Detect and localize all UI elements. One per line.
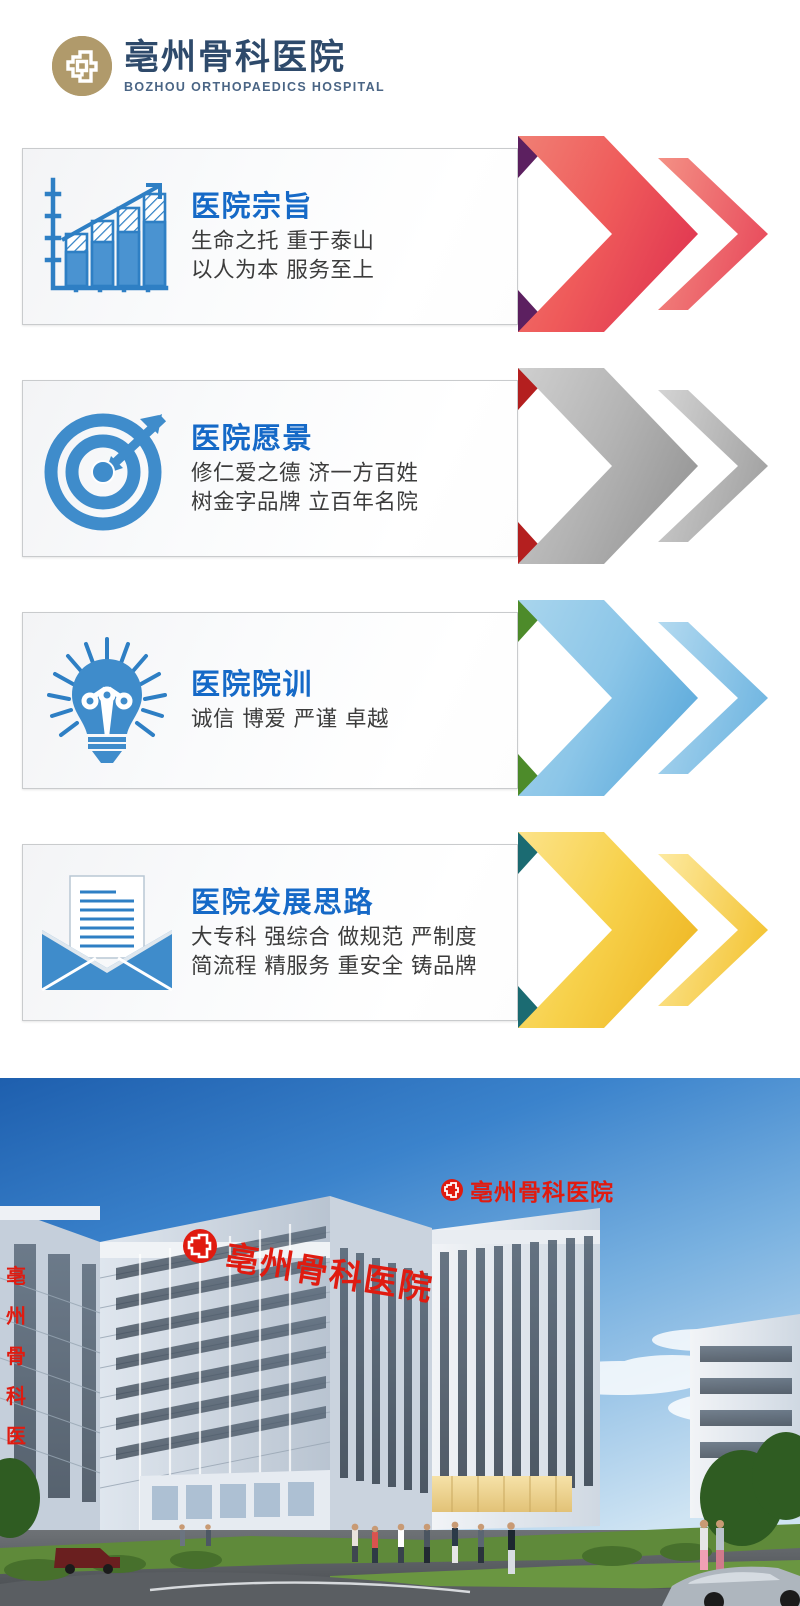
- card-line-2: 简流程 精服务 重安全 铸品牌: [191, 952, 509, 981]
- info-block-hospital-vision: 医院愿景 修仁爱之德 济一方百姓 树金字品牌 立百年名院: [0, 350, 800, 582]
- card-line-1: 诚信 博爱 严谨 卓越: [191, 705, 509, 734]
- card-line-2: 树金字品牌 立百年名院: [191, 488, 509, 517]
- card-body: 医院宗旨 生命之托 重于泰山 以人为本 服务至上: [191, 189, 517, 285]
- envelope-letter-icon: [23, 845, 191, 1020]
- info-block-hospital-development: 医院发展思路 大专科 强综合 做规范 严制度 简流程 精服务 重安全 铸品牌: [0, 814, 800, 1046]
- brand-text: 亳州骨科医院 BOZHOU ORTHOPAEDICS HOSPITAL: [124, 38, 385, 95]
- card-title: 医院愿景: [191, 421, 509, 455]
- card-body: 医院发展思路 大专科 强综合 做规范 严制度 简流程 精服务 重安全 铸品牌: [191, 885, 517, 981]
- lightbulb-idea-icon: [23, 613, 191, 788]
- card-hospital-motto[interactable]: 医院院训 诚信 博爱 严谨 卓越: [22, 612, 518, 789]
- card-title: 医院发展思路: [191, 885, 509, 919]
- svg-text:科: 科: [6, 1384, 26, 1408]
- brand-header: 亳州骨科医院 BOZHOU ORTHOPAEDICS HOSPITAL: [52, 36, 385, 96]
- card-hospital-vision[interactable]: 医院愿景 修仁爱之德 济一方百姓 树金字品牌 立百年名院: [22, 380, 518, 557]
- svg-text:亳: 亳: [6, 1264, 26, 1288]
- svg-text:医: 医: [6, 1424, 26, 1448]
- hospital-campus-photo: 亳州骨科医院: [0, 1078, 800, 1606]
- card-body: 医院院训 诚信 博爱 严谨 卓越: [191, 667, 517, 734]
- card-hospital-development[interactable]: 医院发展思路 大专科 强综合 做规范 严制度 简流程 精服务 重安全 铸品牌: [22, 844, 518, 1021]
- svg-text:骨: 骨: [6, 1344, 26, 1368]
- card-title: 医院院训: [191, 667, 509, 701]
- chevron-group-1: [470, 118, 800, 350]
- bar-chart-growth-icon: [23, 149, 191, 324]
- card-hospital-purpose[interactable]: 医院宗旨 生命之托 重于泰山 以人为本 服务至上: [22, 148, 518, 325]
- brand-name-cn: 亳州骨科医院: [124, 38, 385, 78]
- card-line-1: 生命之托 重于泰山: [191, 227, 509, 256]
- chevron-group-4: [470, 814, 800, 1046]
- svg-text:亳州骨科医院: 亳州骨科医院: [470, 1179, 614, 1206]
- svg-text:州: 州: [6, 1304, 26, 1328]
- card-body: 医院愿景 修仁爱之德 济一方百姓 树金字品牌 立百年名院: [191, 421, 517, 517]
- target-arrow-icon: [23, 381, 191, 556]
- card-line-2: 以人为本 服务至上: [191, 256, 509, 285]
- card-line-1: 大专科 强综合 做规范 严制度: [191, 923, 509, 952]
- chevron-group-3: [470, 582, 800, 814]
- card-line-1: 修仁爱之德 济一方百姓: [191, 459, 509, 488]
- brand-name-en: BOZHOU ORTHOPAEDICS HOSPITAL: [124, 79, 385, 95]
- card-title: 医院宗旨: [191, 189, 509, 223]
- chevron-group-2: [470, 350, 800, 582]
- info-block-hospital-purpose: 医院宗旨 生命之托 重于泰山 以人为本 服务至上: [0, 118, 800, 350]
- hospital-cross-emblem-icon: [52, 36, 112, 96]
- info-block-hospital-motto: 医院院训 诚信 博爱 严谨 卓越: [0, 582, 800, 814]
